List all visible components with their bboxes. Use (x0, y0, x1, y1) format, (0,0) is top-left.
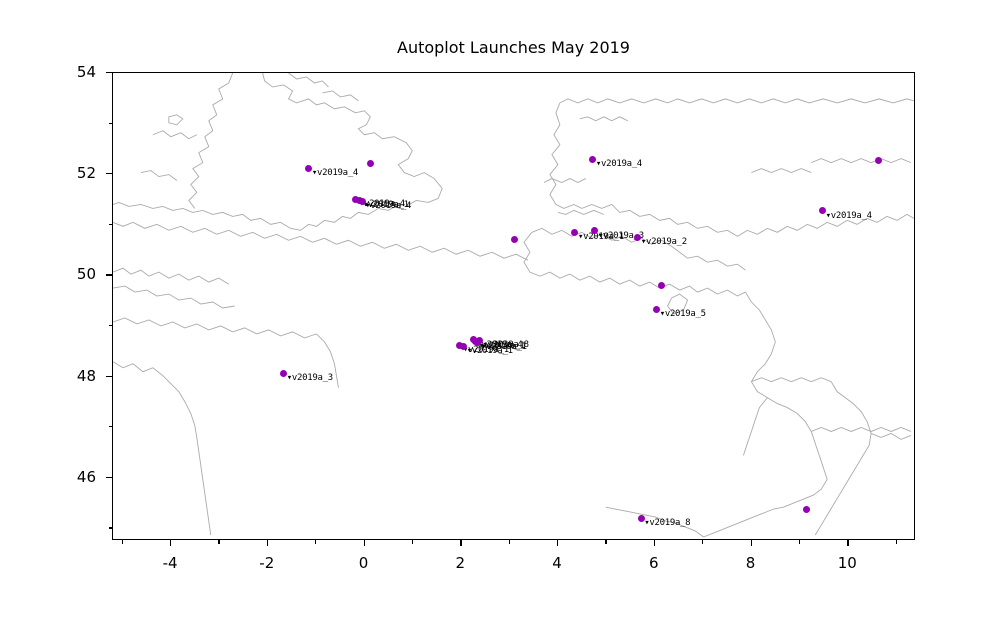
x-tick-label: 8 (731, 554, 771, 572)
x-tick-label: -4 (150, 554, 190, 572)
y-tick-minor (109, 426, 113, 427)
figure-canvas: Autoplot Launches May 2019 (0, 0, 1003, 633)
y-tick-label: 50 (56, 265, 96, 283)
x-tick-minor (218, 540, 219, 544)
data-point-marker[interactable] (367, 160, 374, 167)
x-tick-label: 6 (634, 554, 674, 572)
y-tick-minor (109, 527, 113, 528)
y-tick-major (106, 274, 112, 275)
page-title: Autoplot Launches May 2019 (112, 38, 915, 57)
x-tick-minor (896, 540, 897, 544)
x-tick-major (557, 540, 558, 546)
scatter-plot-axes[interactable]: ▾v2019a_4▾v2019a_4▾v2019a_1▾v2019a_4▾v20… (112, 72, 915, 540)
x-tick-minor (799, 540, 800, 544)
data-point-label: ▾v2019a_2 (641, 238, 687, 247)
x-tick-minor (605, 540, 606, 544)
data-point-marker[interactable] (511, 236, 518, 243)
data-point-label: ▾v2019a_5 (660, 310, 706, 319)
data-point-label: ▾v2019a_4 (365, 202, 411, 211)
x-tick-minor (122, 540, 123, 544)
y-tick-minor (109, 325, 113, 326)
x-tick-major (847, 540, 848, 546)
y-tick-major (106, 376, 112, 377)
x-tick-label: 4 (537, 554, 577, 572)
x-tick-major (751, 540, 752, 546)
y-tick-label: 46 (56, 468, 96, 486)
x-tick-major (460, 540, 461, 546)
x-tick-minor (509, 540, 510, 544)
data-point-marker[interactable] (875, 157, 882, 164)
x-tick-minor (315, 540, 316, 544)
x-tick-major (170, 540, 171, 546)
x-tick-major (364, 540, 365, 546)
y-tick-minor (109, 224, 113, 225)
data-point-label: ▾v2019a_4 (826, 212, 872, 221)
data-point-label: ▾v2019a_8 (644, 519, 690, 528)
data-point-label: ▾v2019a_4 (596, 160, 642, 169)
y-tick-label: 54 (56, 63, 96, 81)
x-tick-major (267, 540, 268, 546)
x-tick-label: 10 (827, 554, 867, 572)
data-point-marker[interactable] (803, 506, 810, 513)
y-tick-major (106, 477, 112, 478)
data-point-label: ▾v2019a_3 (287, 374, 333, 383)
x-tick-label: -2 (247, 554, 287, 572)
y-tick-minor (109, 123, 113, 124)
y-tick-major (106, 173, 112, 174)
data-point-marker[interactable] (658, 282, 665, 289)
data-point-layer: ▾v2019a_4▾v2019a_4▾v2019a_1▾v2019a_4▾v20… (113, 73, 914, 539)
data-point-label: ▾v2019a_8 (483, 341, 529, 350)
x-tick-minor (412, 540, 413, 544)
x-tick-minor (702, 540, 703, 544)
y-tick-label: 52 (56, 164, 96, 182)
y-tick-major (106, 72, 112, 73)
x-tick-label: 0 (344, 554, 384, 572)
x-tick-label: 2 (440, 554, 480, 572)
data-point-label: ▾v2019a_4 (312, 169, 358, 178)
x-tick-major (654, 540, 655, 546)
y-tick-label: 48 (56, 367, 96, 385)
